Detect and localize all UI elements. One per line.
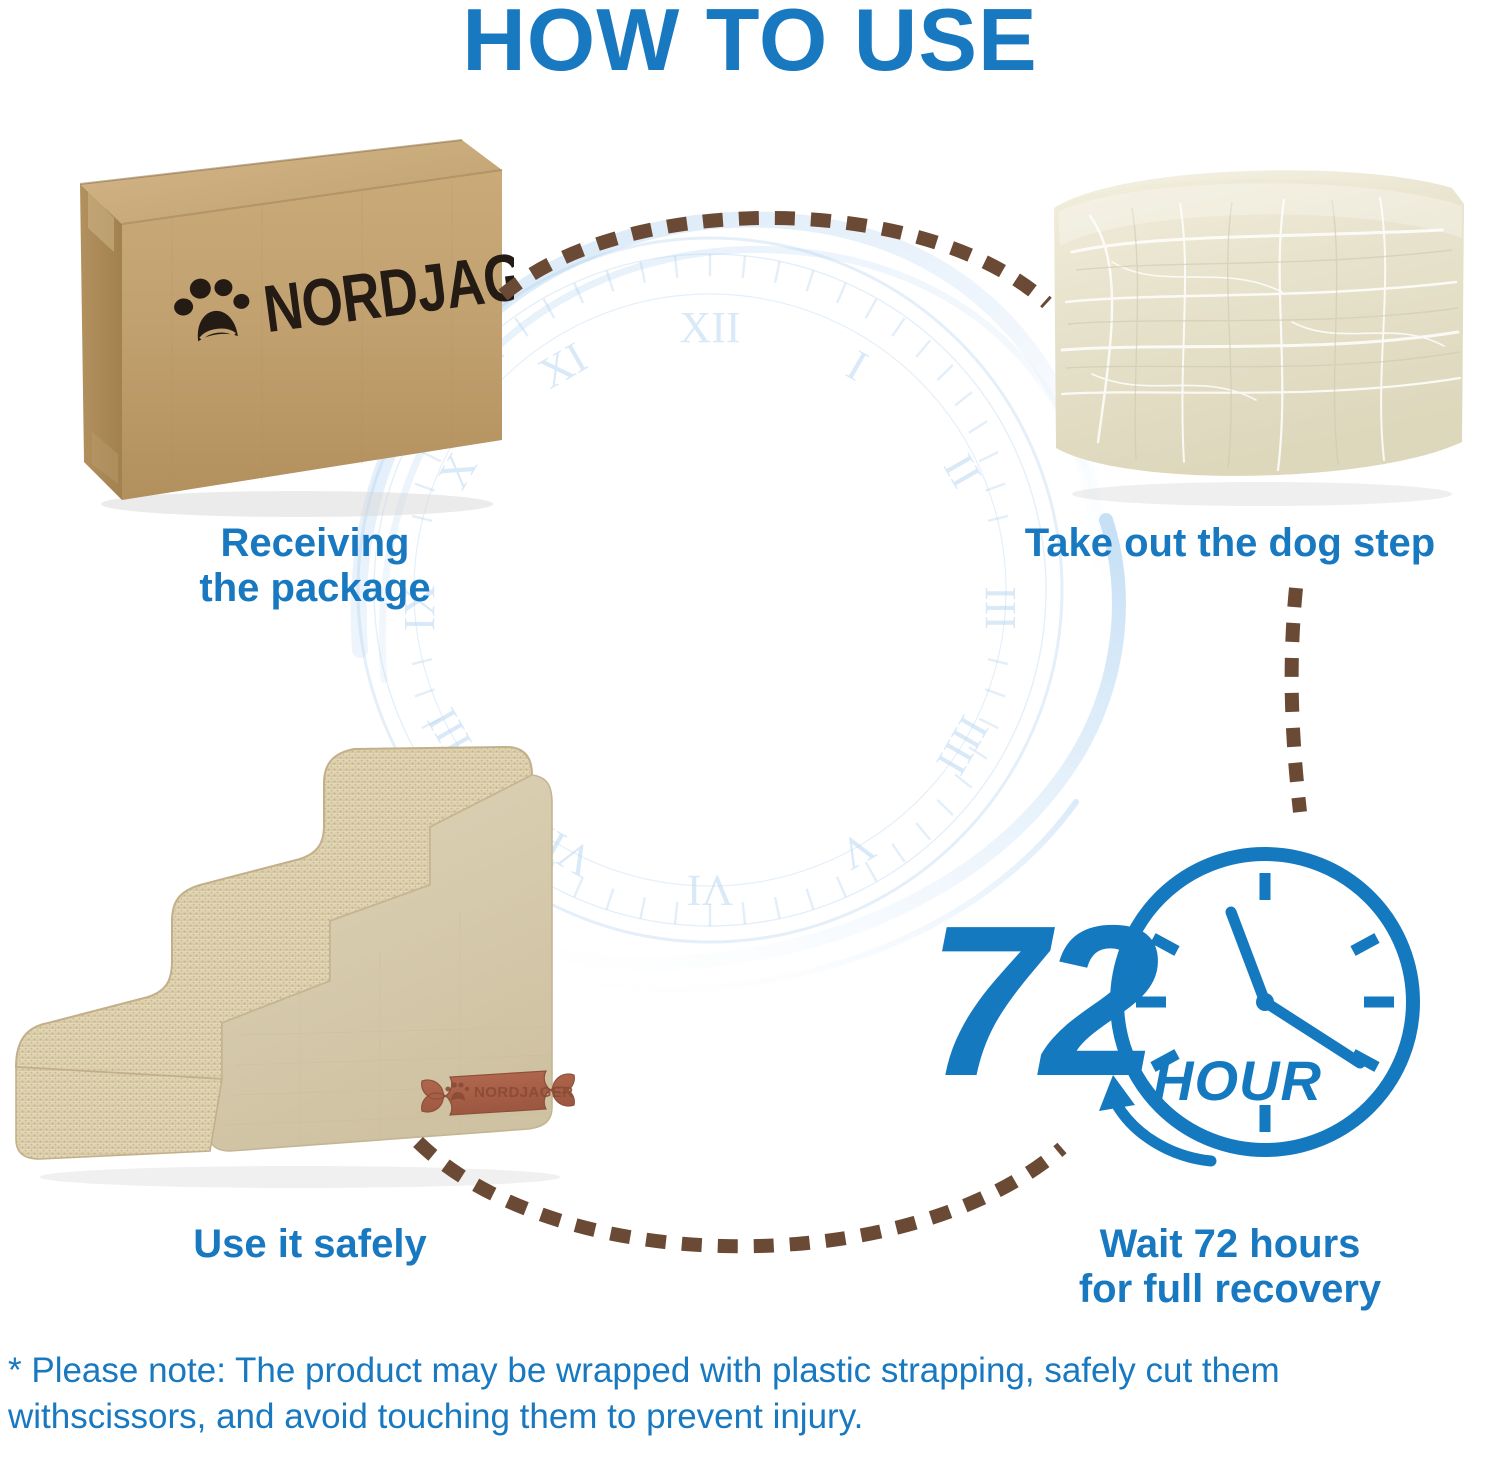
cardboard-box-image: NORDJAGER <box>62 132 514 522</box>
connector-right-arrow <box>1230 580 1390 820</box>
svg-text:IIII: IIII <box>927 708 999 783</box>
connector-top-arrow <box>495 185 1055 310</box>
svg-text:II: II <box>934 446 991 496</box>
dog-step-stairs-image: NORDJAGER <box>0 735 650 1190</box>
step-1-caption: Receiving the package <box>60 521 570 611</box>
step-4-caption: Use it safely <box>30 1222 590 1267</box>
svg-text:III: III <box>976 586 1025 630</box>
svg-text:XII: XII <box>679 303 740 352</box>
page-title: HOW TO USE <box>0 0 1500 84</box>
svg-text:I: I <box>839 341 876 391</box>
patch-brand-text: NORDJAGER <box>474 1084 573 1101</box>
svg-text:V: V <box>831 821 883 879</box>
svg-text:VI: VI <box>687 866 733 915</box>
svg-text:XI: XI <box>530 333 595 399</box>
footnote-text: * Please note: The product may be wrappe… <box>8 1348 1478 1439</box>
plastic-wrapped-product-image <box>1032 142 1476 514</box>
step-3-caption: Wait 72 hours for full recovery <box>980 1222 1480 1312</box>
seventy-two-hour-badge: 72 HOUR <box>935 805 1435 1205</box>
step-2-caption: Take out the dog step <box>960 521 1500 566</box>
infographic-canvas: XII I II III IIII V VI VII VIII IX X XI … <box>0 0 1500 1457</box>
badge-unit: HOUR <box>1153 1048 1322 1113</box>
badge-number: 72 <box>927 893 1154 1108</box>
